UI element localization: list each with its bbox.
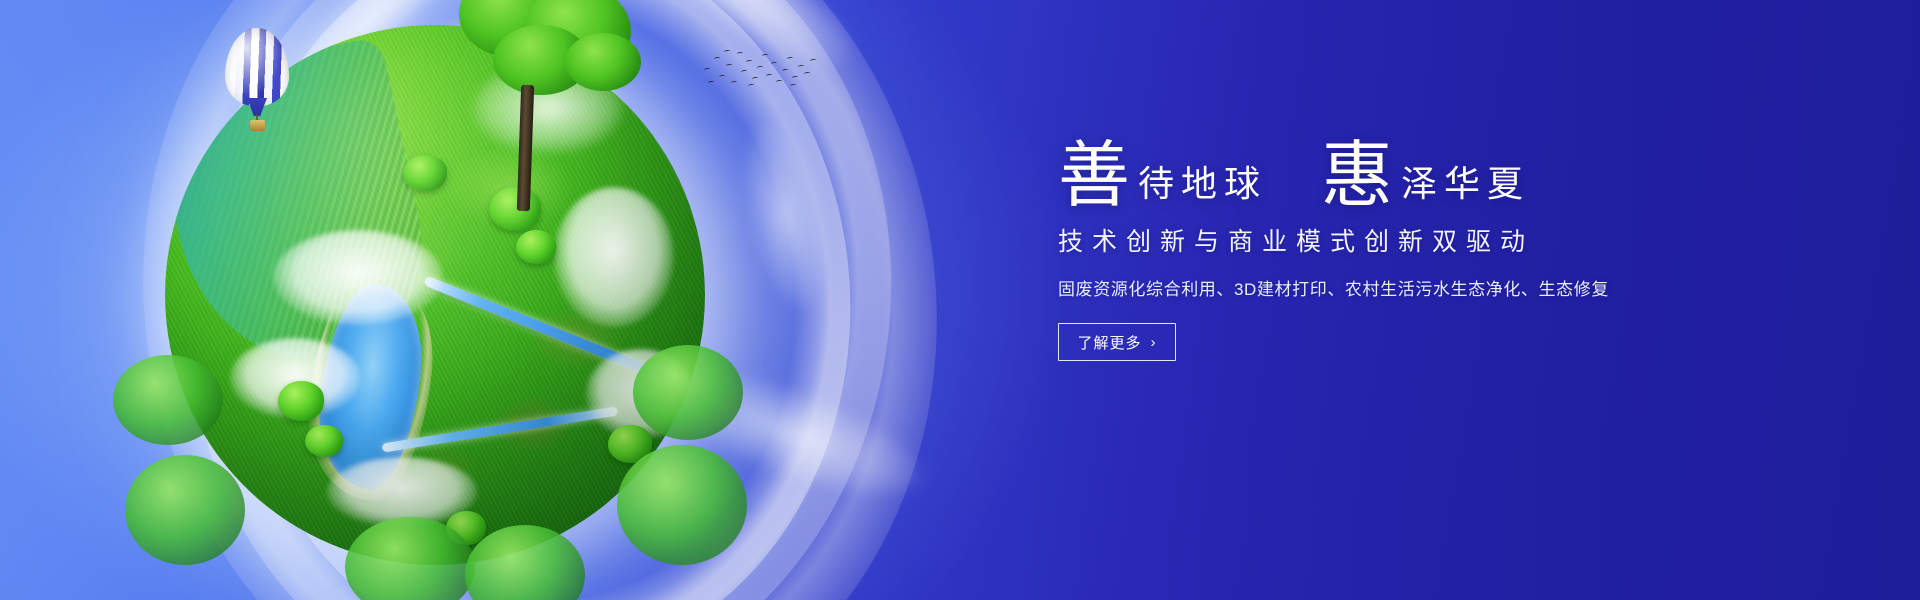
learn-more-button[interactable]: 了解更多 ›	[1058, 323, 1176, 361]
rim-tree	[345, 517, 475, 600]
hot-air-balloon	[225, 28, 289, 138]
banner-description: 固废资源化综合利用、3D建材打印、农村生活污水生态净化、生态修复	[1058, 275, 1818, 300]
headline-part2-large: 惠	[1321, 140, 1393, 212]
cloud-wisp	[731, 115, 839, 315]
learn-more-label: 了解更多	[1077, 332, 1141, 353]
hero-tree	[415, 0, 655, 197]
headline: 善 待地球 惠 泽华夏	[1058, 120, 1818, 206]
rim-tree	[125, 455, 245, 595]
hero-banner: 善 待地球 惠 泽华夏 技术创新与商业模式创新双驱动 固废资源化综合利用、3D建…	[0, 0, 1920, 600]
headline-part2-small: 泽华夏	[1393, 166, 1530, 202]
headline-part1-large: 善	[1058, 140, 1130, 212]
chevron-right-icon: ›	[1151, 335, 1157, 350]
banner-content: 善 待地球 惠 泽华夏 技术创新与商业模式创新双驱动 固废资源化综合利用、3D建…	[1058, 120, 1818, 361]
rim-tree	[617, 445, 747, 595]
rim-tree	[465, 525, 585, 600]
bird-flock	[700, 48, 820, 96]
balloon-basket	[250, 120, 265, 131]
headline-part1-small: 待地球	[1130, 166, 1267, 202]
banner-subtitle: 技术创新与商业模式创新双驱动	[1058, 222, 1818, 258]
balloon-envelope	[225, 28, 289, 106]
